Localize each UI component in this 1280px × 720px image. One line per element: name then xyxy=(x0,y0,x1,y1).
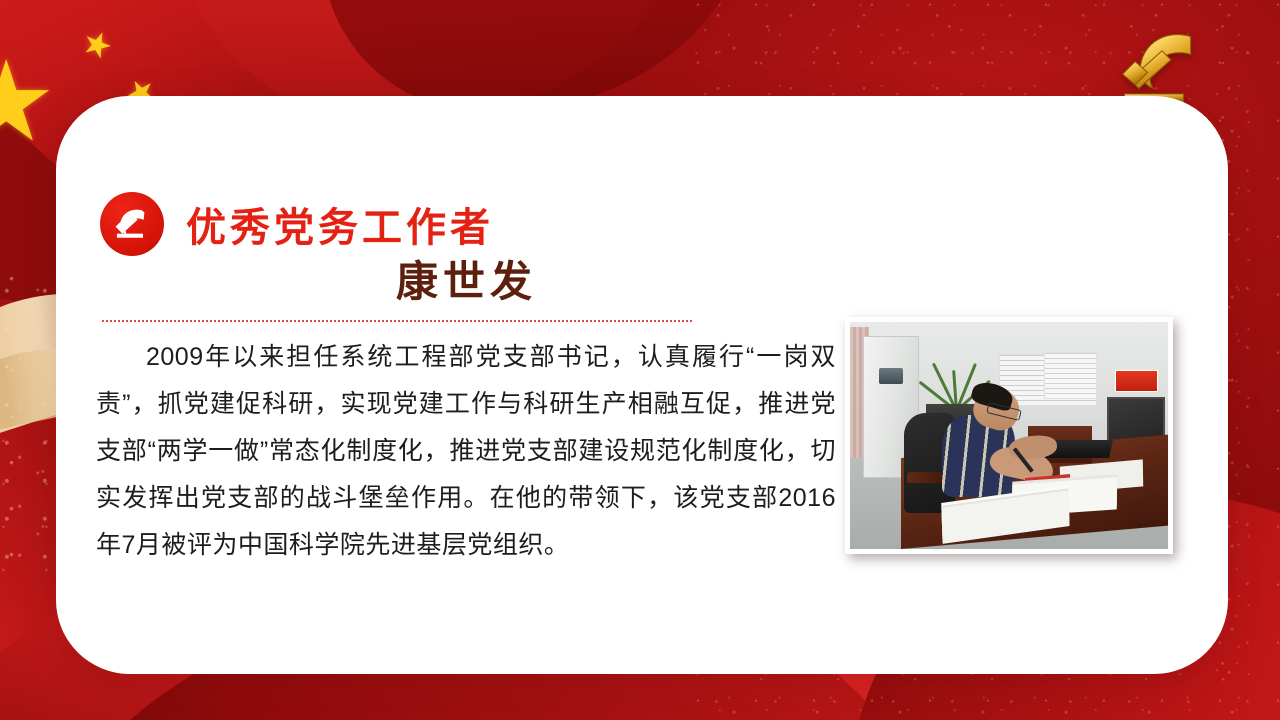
flag-star-small-1: ★ xyxy=(77,24,118,67)
flag-star-large: ★ xyxy=(0,46,56,158)
page-title: 优秀党务工作者 xyxy=(186,195,494,253)
person-name: 康世发 xyxy=(396,248,537,309)
photo-image xyxy=(850,322,1168,549)
portrait-photo xyxy=(845,317,1173,554)
content-card: 优秀党务工作者 康世发 2009年以来担任系统工程部党支部书记，认真履行“一岗双… xyxy=(56,96,1228,674)
title-row: 优秀党务工作者 xyxy=(100,192,494,256)
slide-root: ★ ★ ★ ★ ★ xyxy=(0,0,1280,720)
dotted-divider xyxy=(102,320,692,322)
party-emblem-icon xyxy=(100,192,164,256)
body-paragraph: 2009年以来担任系统工程部党支部书记，认真履行“一岗双责”，抓党建促科研，实现… xyxy=(96,334,836,569)
